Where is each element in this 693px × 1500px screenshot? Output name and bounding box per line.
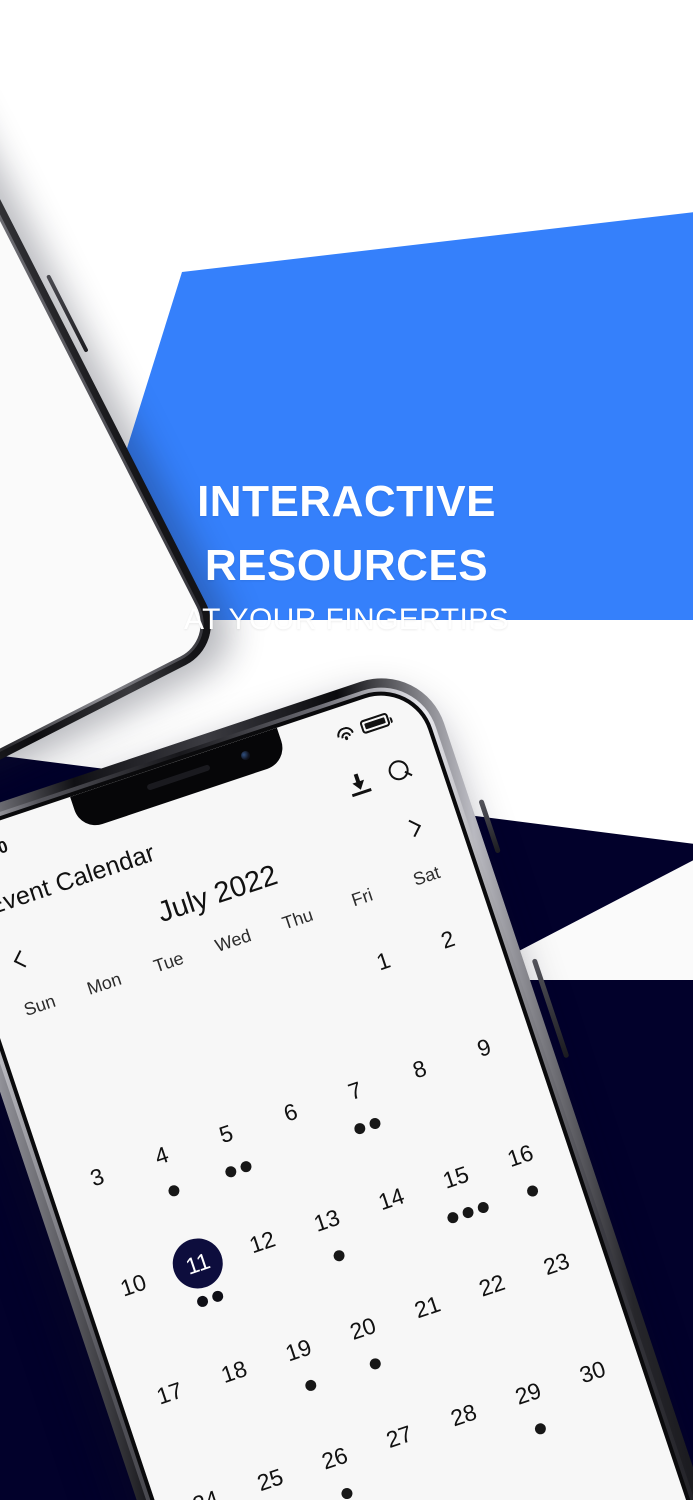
event-dots <box>244 1402 247 1412</box>
event-dots <box>445 1201 489 1225</box>
calendar-day-number: 10 <box>102 1253 165 1316</box>
event-dot <box>239 1160 253 1174</box>
event-dots <box>352 1117 381 1136</box>
event-dot <box>332 1249 346 1263</box>
event-dot <box>352 1122 366 1136</box>
event-dots <box>401 1229 404 1239</box>
event-dot <box>210 1290 224 1304</box>
weekday-label-wed: Wed <box>198 920 269 961</box>
calendar-day-number: 6 <box>259 1081 322 1144</box>
event-dot <box>368 1357 382 1371</box>
event-dots <box>525 1184 539 1198</box>
calendar-day-number: 27 <box>367 1405 430 1468</box>
event-dots <box>394 991 397 1001</box>
calendar-day-number: 25 <box>238 1448 301 1500</box>
event-dot <box>476 1201 490 1215</box>
weekday-label-sat: Sat <box>391 856 462 897</box>
event-dots <box>332 1249 346 1263</box>
calendar-day-number: 30 <box>561 1340 624 1403</box>
search-icon[interactable] <box>386 757 413 784</box>
weekday-label-tue: Tue <box>133 942 204 983</box>
headline-line-1: INTERACTIVE <box>0 470 693 534</box>
event-dots <box>223 1160 252 1179</box>
event-dots <box>368 1357 382 1371</box>
calendar-day-number: 11 <box>166 1232 229 1295</box>
event-dots <box>494 1078 497 1088</box>
poster-canvas: INTERACTIVE RESOURCES AT YOUR FINGERTIPS <box>0 0 693 1500</box>
calendar-day-number: 13 <box>295 1189 358 1252</box>
calendar-day-number: 21 <box>396 1275 459 1338</box>
calendar-day-number: 22 <box>460 1254 523 1317</box>
calendar-day-number: 7 <box>323 1059 386 1122</box>
calendar-day-number: 1 <box>352 929 415 992</box>
weekday-label-sun: Sun <box>4 985 75 1026</box>
calendar-day-number: 26 <box>303 1426 366 1489</box>
event-dots <box>567 1294 570 1304</box>
event-dots <box>195 1290 224 1309</box>
calendar-day-number: 18 <box>202 1340 265 1403</box>
event-dots <box>438 1337 441 1347</box>
battery-icon <box>359 712 391 734</box>
event-dots <box>272 1272 275 1282</box>
weekday-label-thu: Thu <box>262 899 333 940</box>
calendar-day-number: 8 <box>388 1037 451 1100</box>
event-dot <box>223 1165 237 1179</box>
event-dot <box>533 1422 547 1436</box>
calendar-day-number: 28 <box>432 1383 495 1446</box>
calendar-day-number: 5 <box>194 1102 257 1165</box>
status-time: 9:00 <box>0 837 11 867</box>
event-dot <box>461 1206 475 1220</box>
event-dots <box>458 970 461 980</box>
event-dots <box>430 1099 433 1109</box>
calendar-day-number: 12 <box>231 1210 294 1273</box>
calendar-day-number: 23 <box>525 1232 588 1295</box>
event-dots <box>167 1184 181 1198</box>
event-dot <box>340 1487 354 1500</box>
calendar-day-number: 3 <box>65 1145 128 1208</box>
headline-subtitle: AT YOUR FINGERTIPS <box>0 600 693 641</box>
event-dots <box>502 1316 505 1326</box>
event-dot <box>445 1211 459 1225</box>
event-dots <box>340 1487 354 1500</box>
event-dots <box>409 1467 412 1477</box>
event-dot <box>167 1184 181 1198</box>
event-dots <box>143 1315 146 1325</box>
event-dot <box>525 1184 539 1198</box>
event-dots <box>533 1422 547 1436</box>
download-icon[interactable] <box>346 770 372 796</box>
calendar-day-number: 15 <box>424 1146 487 1209</box>
event-dot <box>368 1117 382 1131</box>
weekday-label-mon: Mon <box>69 963 140 1004</box>
headline-line-2: RESOURCES <box>0 534 693 598</box>
calendar-day-number: 24 <box>174 1470 237 1500</box>
event-dots <box>301 1143 304 1153</box>
event-dots <box>603 1402 606 1412</box>
headline-block: INTERACTIVE RESOURCES AT YOUR FINGERTIPS <box>0 470 693 640</box>
event-dots <box>303 1379 317 1393</box>
calendar-day-number: 9 <box>452 1016 515 1079</box>
wifi-icon <box>335 725 355 742</box>
weekday-label-fri: Fri <box>327 877 398 918</box>
calendar-day-number: 4 <box>130 1124 193 1187</box>
calendar-day-number: 16 <box>489 1124 552 1187</box>
event-dots <box>180 1424 183 1434</box>
calendar-day-number: 14 <box>360 1167 423 1230</box>
event-dots <box>474 1445 477 1455</box>
calendar-day-number: 19 <box>267 1318 330 1381</box>
event-dots <box>107 1207 110 1217</box>
calendar-day-number: 29 <box>496 1362 559 1425</box>
calendar-day-number: 20 <box>331 1297 394 1360</box>
calendar-day-number: 2 <box>416 908 479 971</box>
event-dot <box>303 1379 317 1393</box>
event-dot <box>195 1295 209 1309</box>
calendar-day-number: 17 <box>138 1362 201 1425</box>
